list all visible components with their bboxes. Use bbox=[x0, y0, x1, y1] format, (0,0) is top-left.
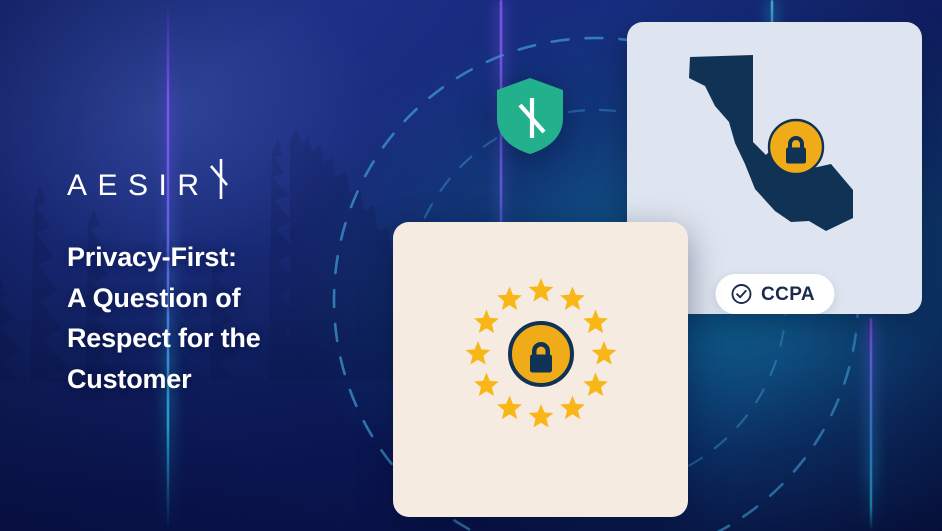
eu-star bbox=[466, 341, 491, 365]
page-title-line-2: A Question of bbox=[67, 278, 397, 319]
card-gdpr[interactable]: GDPR bbox=[393, 222, 688, 517]
aesir-logo: AESIR bbox=[67, 170, 228, 201]
eu-star bbox=[474, 310, 499, 334]
logo-wordmark: AESIR bbox=[67, 171, 210, 201]
privacy-banner: AESIR Privacy-First: A Question of Respe… bbox=[0, 0, 942, 531]
eu-star bbox=[592, 341, 617, 365]
page-title-line-4: Customer bbox=[67, 359, 397, 400]
eu-star bbox=[560, 286, 585, 310]
nauthiz-rune-icon bbox=[208, 157, 228, 201]
eu-star bbox=[583, 373, 608, 397]
eu-star bbox=[474, 373, 499, 397]
page-title: Privacy-First: A Question of Respect for… bbox=[67, 237, 397, 399]
eu-star bbox=[560, 396, 585, 420]
eu-stars-circle-icon bbox=[393, 234, 688, 474]
status-badge-ccpa[interactable]: CCPA bbox=[715, 274, 834, 314]
shield-rune-icon bbox=[494, 76, 566, 156]
eu-star bbox=[529, 278, 554, 302]
eu-star bbox=[497, 396, 522, 420]
check-circle-icon bbox=[730, 283, 752, 305]
eu-star bbox=[529, 404, 554, 428]
page-title-line-3: Respect for the bbox=[67, 318, 397, 359]
status-badge-label: CCPA bbox=[761, 285, 815, 304]
eu-star bbox=[497, 286, 522, 310]
page-title-line-1: Privacy-First: bbox=[67, 237, 397, 278]
eu-star bbox=[583, 310, 608, 334]
